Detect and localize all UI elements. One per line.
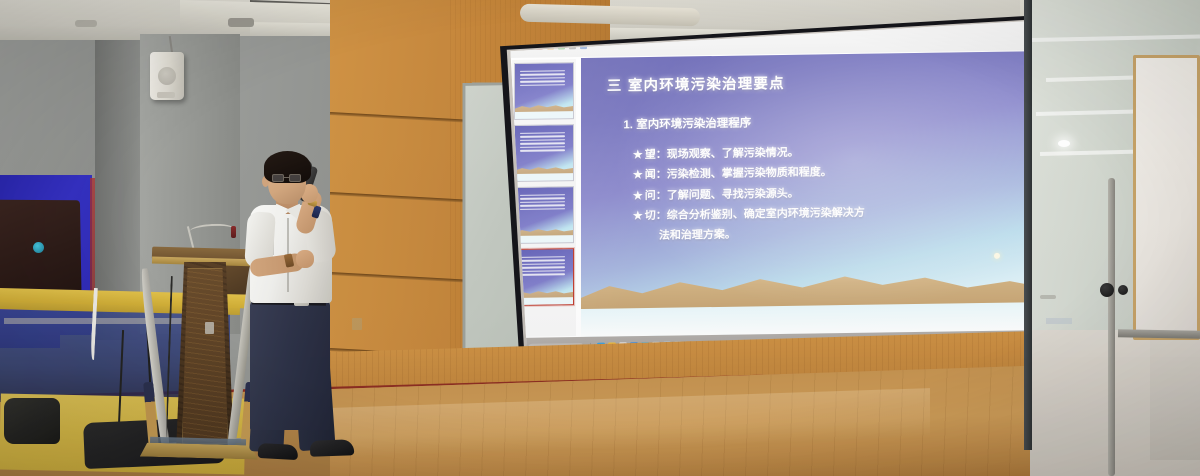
equipment-bag — [4, 398, 60, 444]
thumbnail-text-lines — [520, 193, 565, 212]
thumbnail-sky — [515, 235, 573, 242]
presenter-hand-left — [296, 250, 314, 268]
glasses-icon — [272, 174, 304, 183]
presenter-trousers — [250, 300, 330, 430]
whiteboard — [1133, 55, 1200, 340]
slide-thumbnail[interactable] — [514, 124, 574, 182]
slide-thumbnail[interactable] — [514, 62, 574, 120]
slide-bullet-text: 切：综合分析鉴别、确定室内环境污染解决方 — [645, 207, 865, 222]
star-icon: ★ — [633, 190, 643, 202]
slide-bullet-text: 问：了解问题、寻找污染源头。 — [645, 188, 799, 202]
star-icon: ★ — [633, 210, 643, 222]
glass-sign — [1046, 318, 1072, 324]
podium-front-panel — [182, 268, 228, 444]
star-icon: ★ — [633, 170, 643, 182]
current-slide[interactable]: 三 室内环境污染治理要点 1. 室内环境污染治理程序 ★望：现场观察、了解污染情… — [581, 51, 1052, 337]
thumbnail-sky — [515, 111, 573, 118]
presenter-shoe-right — [310, 439, 355, 457]
speaker-grill-icon — [158, 67, 176, 85]
wall-socket-icon — [205, 322, 214, 334]
slide-bullet: ★望：现场观察、了解污染情况。 — [633, 144, 1029, 164]
speaker-base — [157, 92, 175, 98]
thumbnail-text-lines — [520, 255, 565, 277]
slide-bullet-list: ★望：现场观察、了解污染情况。 ★闻：污染检测、掌握污染物质和程度。 ★问：了解… — [633, 144, 1029, 251]
slide-subtitle: 1. 室内环境污染治理程序 — [624, 114, 752, 132]
wall-speaker-icon — [150, 52, 184, 100]
whiteboard-knob-secondary[interactable] — [1118, 285, 1128, 295]
slide-bullet-text: 法和治理方案。 — [659, 229, 736, 242]
slide-thumbnail[interactable] — [514, 186, 574, 244]
thumbnail-text-lines — [520, 131, 565, 153]
thumbnail-sky — [515, 173, 573, 180]
slide-bullet-continuation: 法和治理方案。 — [659, 225, 1029, 244]
slide-bullet-text: 闻：污染检测、掌握污染物质和程度。 — [645, 167, 832, 182]
glass-mullion — [1024, 0, 1032, 450]
presenter-shoe-left — [258, 443, 299, 460]
slide-bullet-text: 望：现场观察、了解污染情况。 — [645, 147, 799, 161]
star-icon: ★ — [633, 149, 643, 161]
wall-socket-icon — [352, 318, 362, 330]
podium-mic-head-icon — [231, 226, 236, 238]
whiteboard-knob[interactable] — [1100, 283, 1114, 297]
slide-bullet: ★切：综合分析鉴别、确定室内环境污染解决方 — [633, 204, 1029, 224]
table-shelf — [4, 318, 204, 324]
whiteboard-stand — [1108, 178, 1115, 476]
thumbnail-text-lines — [520, 69, 565, 88]
ceiling-light-slot — [228, 18, 254, 27]
laptop-logo-icon — [33, 242, 44, 253]
slide-bullet: ★闻：污染检测、掌握污染物质和程度。 — [633, 164, 1029, 184]
slide-title: 三 室内环境污染治理要点 — [607, 72, 785, 96]
slide-bullet: ★问：了解问题、寻找污染源头。 — [633, 184, 1029, 204]
whiteboard-tray — [1118, 329, 1200, 338]
lecture-hall-photo: 三 室内环境污染治理要点 1. 室内环境污染治理程序 ★望：现场观察、了解污染情… — [0, 0, 1200, 476]
far-wall — [1150, 340, 1200, 460]
glass-door-handle[interactable] — [1040, 295, 1056, 299]
glass-light-spot — [1058, 140, 1070, 147]
ceiling-vent-icon — [75, 20, 97, 27]
sun-icon — [995, 253, 1001, 259]
